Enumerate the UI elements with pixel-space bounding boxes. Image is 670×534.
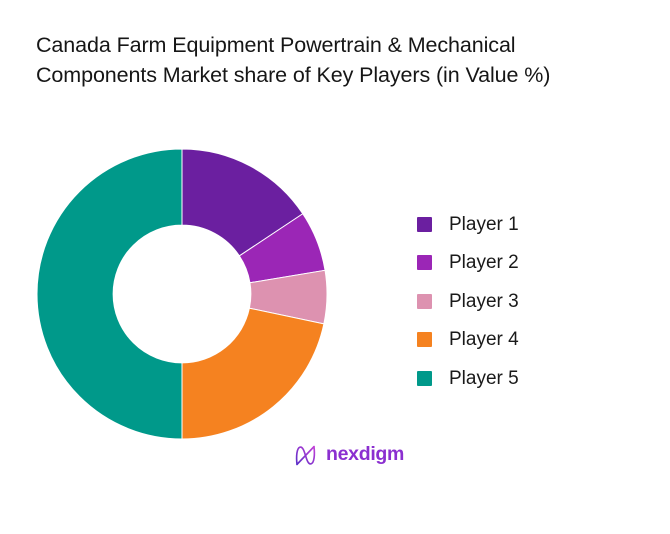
chart-title: Canada Farm Equipment Powertrain & Mecha… (36, 30, 612, 90)
nexdigm-wordmark: nexdigm (326, 445, 404, 465)
legend-item-label: Player 3 (449, 292, 519, 311)
donut-slice-player-4[interactable] (182, 308, 324, 439)
legend-swatch-icon (417, 255, 432, 270)
legend-swatch-icon (417, 332, 432, 347)
donut-chart-svg (36, 148, 328, 440)
legend-swatch-icon (417, 294, 432, 309)
nexdigm-logo: nexdigm (292, 441, 404, 469)
chart-legend: Player 1Player 2Player 3Player 4Player 5 (417, 205, 597, 398)
legend-item-player-2[interactable]: Player 2 (417, 244, 597, 283)
legend-item-player-3[interactable]: Player 3 (417, 282, 597, 321)
legend-swatch-icon (417, 371, 432, 386)
legend-item-label: Player 5 (449, 369, 519, 388)
legend-item-label: Player 4 (449, 330, 519, 349)
donut-chart (36, 148, 328, 440)
chart-canvas: Canada Farm Equipment Powertrain & Mecha… (0, 0, 670, 534)
legend-item-player-4[interactable]: Player 4 (417, 321, 597, 360)
nexdigm-mark-icon (292, 442, 319, 469)
legend-item-player-5[interactable]: Player 5 (417, 359, 597, 398)
donut-slice-group (37, 149, 327, 439)
donut-slice-player-5[interactable] (37, 149, 182, 439)
legend-item-player-1[interactable]: Player 1 (417, 205, 597, 244)
legend-swatch-icon (417, 217, 432, 232)
legend-item-label: Player 1 (449, 215, 519, 234)
legend-item-label: Player 2 (449, 253, 519, 272)
